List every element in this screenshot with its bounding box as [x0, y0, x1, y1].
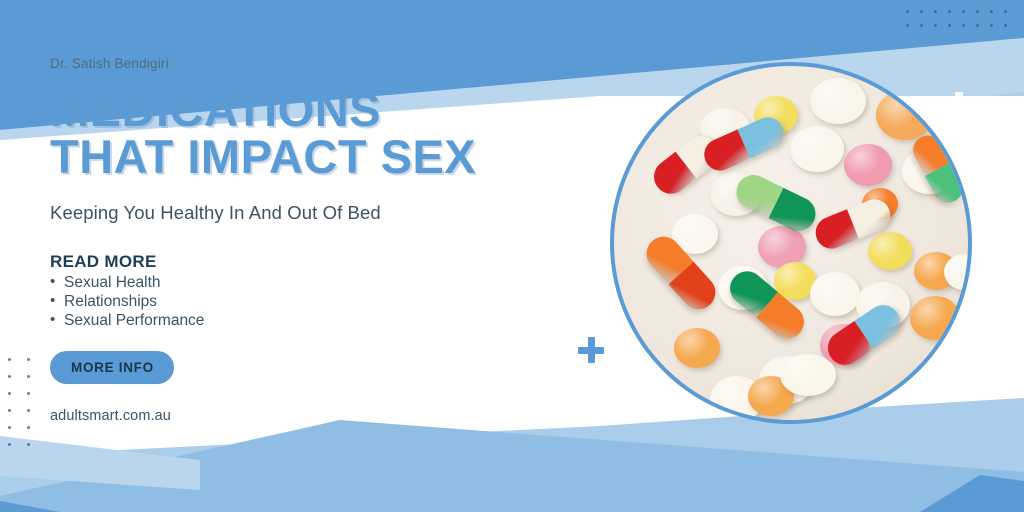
read-more-heading: READ MORE [50, 252, 570, 272]
decorative-dot [990, 10, 993, 13]
decorative-dot [8, 392, 11, 395]
decorative-dot [27, 392, 30, 395]
decorative-dot [8, 409, 11, 412]
list-item[interactable]: Sexual Health [50, 274, 570, 293]
topic-list: Sexual Health Relationships Sexual Perfo… [50, 274, 570, 331]
list-item[interactable]: Sexual Performance [50, 312, 570, 331]
promo-banner: Dr. Satish Bendigiri MEDICATIONS THAT IM… [0, 0, 1024, 512]
plus-icon [578, 337, 604, 363]
pill-item [780, 354, 836, 396]
decorative-dot [920, 24, 923, 27]
decorative-dot [27, 409, 30, 412]
author-byline: Dr. Satish Bendigiri [50, 56, 570, 71]
pills-photo [610, 62, 972, 424]
decorative-dot [8, 426, 11, 429]
pill-item [790, 126, 844, 172]
more-info-button[interactable]: MORE INFO [50, 351, 174, 384]
pill-item [810, 78, 866, 124]
pill-item [674, 328, 720, 368]
decorative-dot [962, 10, 965, 13]
decorative-dot [934, 10, 937, 13]
decorative-dot [934, 24, 937, 27]
pill-item [892, 378, 932, 412]
pill-item [810, 272, 860, 316]
site-url[interactable]: adultsmart.com.au [50, 408, 570, 424]
pill-item [868, 232, 912, 270]
decorative-dot [948, 10, 951, 13]
decorative-dot [906, 10, 909, 13]
decorative-dot [920, 10, 923, 13]
decorative-dot [8, 358, 11, 361]
page-title: MEDICATIONS THAT IMPACT SEX [50, 87, 570, 180]
decorative-dot [948, 24, 951, 27]
dot-grid-top-right [906, 10, 1018, 38]
headline-line-2: THAT IMPACT SEX [50, 134, 570, 181]
dot-grid-bottom-left [8, 358, 46, 460]
decorative-dot [27, 443, 30, 446]
pill-item [876, 90, 934, 140]
pill-item [922, 352, 966, 390]
decorative-dot [976, 24, 979, 27]
decorative-dot [962, 24, 965, 27]
decorative-dot [8, 443, 11, 446]
list-item[interactable]: Relationships [50, 293, 570, 312]
plus-icon [944, 92, 974, 122]
headline-line-1: MEDICATIONS [50, 87, 570, 134]
pill-item [844, 144, 892, 186]
text-column: Dr. Satish Bendigiri MEDICATIONS THAT IM… [50, 56, 570, 424]
decorative-dot [1004, 24, 1007, 27]
decorative-dot [8, 375, 11, 378]
decorative-dot [27, 426, 30, 429]
decorative-dot [906, 24, 909, 27]
subtitle: Keeping You Healthy In And Out Of Bed [50, 202, 570, 224]
pill-item [910, 296, 960, 340]
decorative-dot [990, 24, 993, 27]
decorative-dot [976, 10, 979, 13]
decorative-dot [1004, 10, 1007, 13]
decorative-dot [27, 375, 30, 378]
decorative-dot [27, 358, 30, 361]
